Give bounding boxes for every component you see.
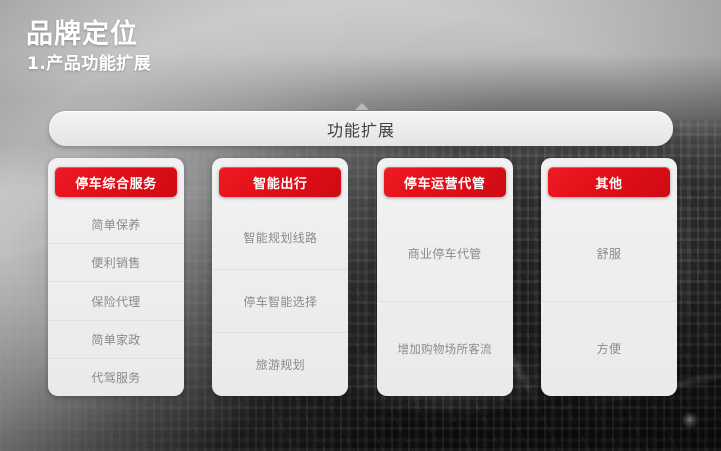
- list-item[interactable]: 代驾服务: [48, 359, 184, 396]
- page-subtitle: 1.产品功能扩展: [27, 54, 151, 74]
- category-header-label: 停车综合服务: [75, 173, 157, 192]
- page-title: 品牌定位: [26, 20, 151, 50]
- category-header-label: 停车运营代管: [404, 173, 486, 192]
- category-header-label: 其他: [595, 173, 622, 192]
- category-header-badge: 智能出行: [219, 167, 341, 197]
- list-item[interactable]: 方便: [541, 302, 677, 397]
- diagram-header-label: 功能扩展: [327, 117, 395, 141]
- chevron-up-icon: [355, 103, 369, 110]
- category-item-list: 简单保养 便利销售 保险代理 简单家政 代驾服务: [48, 206, 184, 396]
- list-item[interactable]: 舒服: [541, 206, 677, 302]
- list-item[interactable]: 保险代理: [48, 282, 184, 320]
- category-card-other[interactable]: 其他 舒服 方便: [541, 158, 677, 396]
- list-item[interactable]: 商业停车代管: [377, 206, 513, 302]
- category-item-list: 舒服 方便: [541, 206, 677, 396]
- category-header-label: 智能出行: [253, 173, 307, 192]
- category-item-list: 商业停车代管 增加购物场所客流: [377, 206, 513, 396]
- slide-canvas: 品牌定位 1.产品功能扩展 功能扩展 停车综合服务 简单保养 便利销售 保险代理…: [0, 0, 721, 451]
- category-card-parking-services[interactable]: 停车综合服务 简单保养 便利销售 保险代理 简单家政 代驾服务: [48, 158, 184, 396]
- diagram-columns: 停车综合服务 简单保养 便利销售 保险代理 简单家政 代驾服务 智能出行 智能规…: [48, 158, 677, 396]
- category-header-badge: 停车运营代管: [384, 167, 506, 197]
- list-item[interactable]: 便利销售: [48, 244, 184, 282]
- title-block: 品牌定位 1.产品功能扩展: [26, 20, 151, 74]
- category-item-list: 智能规划线路 停车智能选择 旅游规划: [212, 206, 348, 396]
- diagram-header-bar: 功能扩展: [49, 111, 673, 146]
- category-header-badge: 停车综合服务: [55, 167, 177, 197]
- list-item[interactable]: 停车智能选择: [212, 270, 348, 334]
- list-item[interactable]: 旅游规划: [212, 333, 348, 396]
- category-card-parking-operations[interactable]: 停车运营代管 商业停车代管 增加购物场所客流: [377, 158, 513, 396]
- list-item[interactable]: 增加购物场所客流: [377, 302, 513, 397]
- list-item[interactable]: 简单保养: [48, 206, 184, 244]
- category-card-smart-travel[interactable]: 智能出行 智能规划线路 停车智能选择 旅游规划: [212, 158, 348, 396]
- list-item[interactable]: 简单家政: [48, 321, 184, 359]
- category-header-badge: 其他: [548, 167, 670, 197]
- list-item[interactable]: 智能规划线路: [212, 206, 348, 270]
